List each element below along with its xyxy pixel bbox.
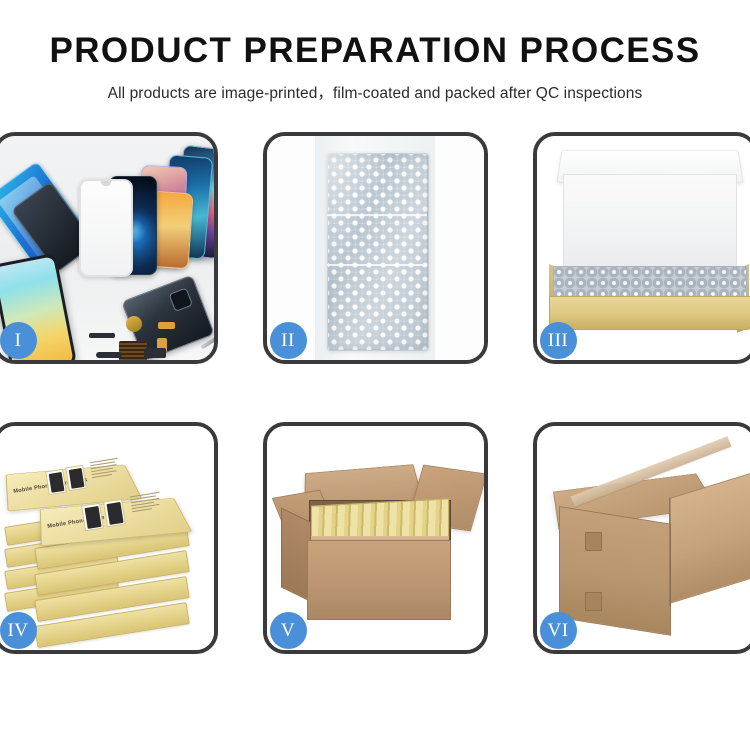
kraft-box-front-panel — [549, 296, 750, 330]
step-5-caption: Retail boxes loaded into outer shipping … — [267, 426, 268, 427]
carton-front-face — [307, 540, 451, 620]
step-badge-4: IV — [0, 612, 37, 649]
white-box-back-panel — [563, 174, 737, 274]
phone-parts-image: Assorted mobile phone screens, LCD displ… — [0, 136, 214, 360]
step-badge-1: I — [0, 322, 37, 359]
step-6-caption: Sealed and taped shipping carton ready t… — [537, 426, 538, 427]
step-badge-6: VI — [540, 612, 577, 649]
page-title: PRODUCT PREPARATION PROCESS — [0, 33, 750, 68]
product-preparation-infographic: PRODUCT PREPARATION PROCESS All products… — [0, 0, 750, 750]
box-window-phone-image — [81, 503, 104, 532]
process-step-grid: Assorted mobile phone screens, LCD displ… — [0, 132, 750, 654]
box-window-phone-image — [103, 499, 126, 528]
process-step-panel-3: Bubble-wrapped product placed inside inn… — [533, 132, 750, 364]
step-3-caption: Bubble-wrapped product placed inside inn… — [537, 136, 538, 137]
process-step-panel-6: Sealed and taped shipping carton ready t… — [533, 422, 750, 654]
flex-cable-part-icon — [158, 322, 175, 329]
bubble-wrap-seam — [327, 214, 427, 216]
carton-vertical-seam — [669, 498, 671, 606]
ic-chip-part-icon — [119, 341, 147, 360]
box-window-phone-image — [45, 469, 67, 496]
step-2-caption: Product wrapped in protective bubble wra… — [267, 136, 268, 137]
vibration-motor-part-icon — [126, 316, 142, 332]
box-window-phone-image — [65, 465, 87, 492]
retail-box-stack: Mobile Phone Spare Parts Mobile Phone Sp… — [0, 426, 214, 650]
page-subtitle: All products are image-printed，film-coat… — [0, 81, 750, 103]
tempered-glass-protector-icon — [79, 179, 133, 277]
step-badge-5: V — [270, 612, 307, 649]
carton-handle-tab — [585, 532, 602, 551]
process-step-panel-2: Product wrapped in protective bubble wra… — [263, 132, 488, 364]
process-step-panel-5: Retail boxes loaded into outer shipping … — [263, 422, 488, 654]
header: PRODUCT PREPARATION PROCESS All products… — [0, 0, 750, 103]
process-step-panel-1: Assorted mobile phone screens, LCD displ… — [0, 132, 218, 364]
bubble-wrap-sheen — [327, 153, 427, 349]
process-step-panel-4: Mobile Phone Spare Parts Mobile Phone Sp… — [0, 422, 218, 654]
step-badge-2: II — [270, 322, 307, 359]
bracket-part-icon — [144, 348, 166, 358]
carton-handle-tab — [585, 592, 602, 611]
step-badge-3: III — [540, 322, 577, 359]
connector-part-icon — [96, 352, 122, 358]
speaker-part-icon — [89, 333, 115, 338]
bubble-wrap-seam — [327, 264, 427, 266]
bubble-wrapped-contents-icon — [553, 266, 747, 300]
stacked-boxes-image: Mobile Phone Spare Parts Mobile Phone Sp… — [0, 426, 214, 650]
carton-front-face — [559, 506, 671, 636]
